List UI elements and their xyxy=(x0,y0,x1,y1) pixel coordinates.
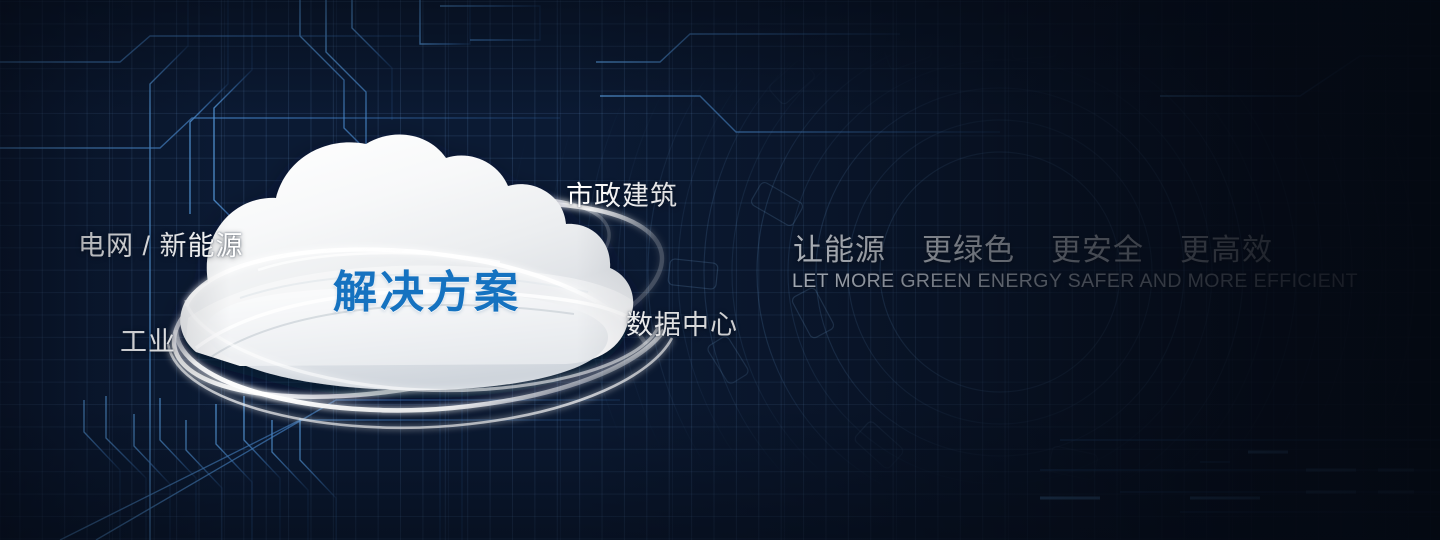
solution-banner: 解决方案 电网 / 新能源 工业 市政建筑 数据中心 让能源更绿色更安全更高效 … xyxy=(0,0,1440,540)
vignette xyxy=(0,0,1440,540)
